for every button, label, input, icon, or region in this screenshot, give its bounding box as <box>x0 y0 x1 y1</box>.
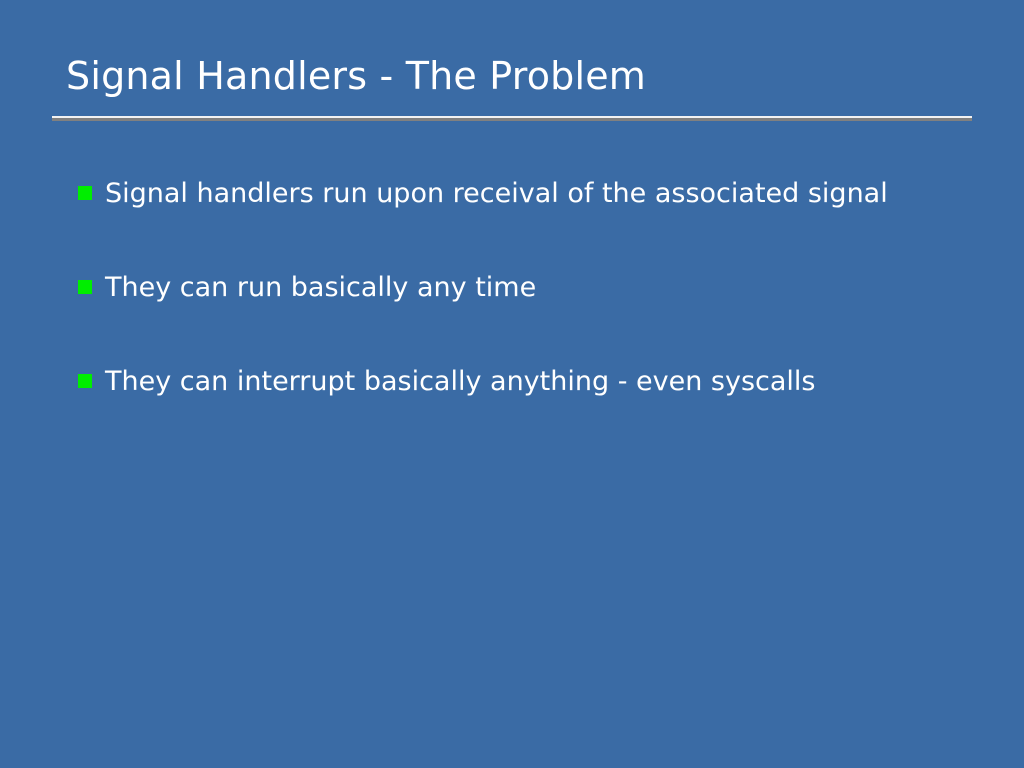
divider-shadow-line <box>52 118 972 121</box>
title-divider <box>52 116 972 121</box>
list-item: Signal handlers run upon receival of the… <box>78 174 978 213</box>
list-item: They can interrupt basically anything - … <box>78 362 978 401</box>
square-bullet-icon <box>78 280 92 294</box>
bullet-list: Signal handlers run upon receival of the… <box>78 174 978 401</box>
square-bullet-icon <box>78 374 92 388</box>
presentation-slide: Signal Handlers - The Problem Signal han… <box>0 0 1024 768</box>
list-item-label: Signal handlers run upon receival of the… <box>105 174 895 213</box>
list-item: They can run basically any time <box>78 268 978 307</box>
page-title: Signal Handlers - The Problem <box>52 50 972 102</box>
list-item-label: They can run basically any time <box>105 268 905 307</box>
list-item-label: They can interrupt basically anything - … <box>105 362 905 401</box>
square-bullet-icon <box>78 186 92 200</box>
slide-title-block: Signal Handlers - The Problem <box>52 50 972 102</box>
